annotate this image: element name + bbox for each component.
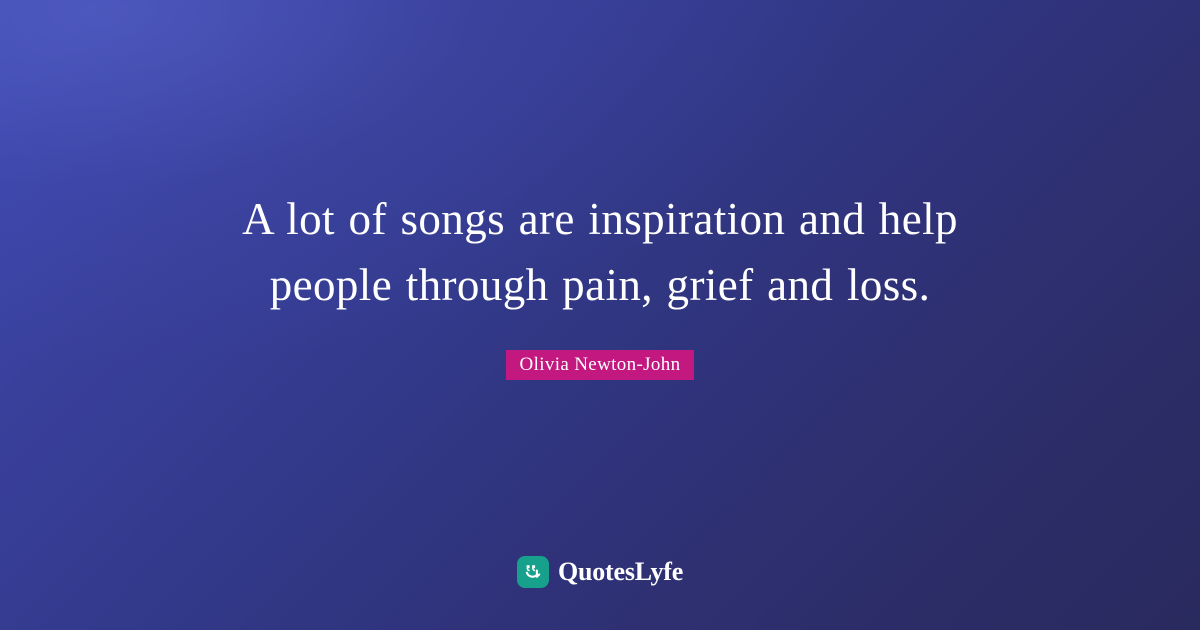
quote-line-1: A lot of songs are inspiration and help [100, 186, 1100, 252]
card-content: A lot of songs are inspiration and help … [0, 0, 1200, 630]
quote-mark-icon [517, 556, 549, 588]
quote-card: A lot of songs are inspiration and help … [0, 0, 1200, 630]
quote-block: A lot of songs are inspiration and help … [0, 186, 1200, 318]
site-logo-wordmark: QuotesLyfe [558, 559, 683, 585]
author-name-badge: Olivia Newton-John [506, 350, 695, 380]
quote-line-2: people through pain, grief and loss. [100, 252, 1100, 318]
author-attribution: Olivia Newton-John [0, 350, 1200, 380]
site-logo: QuotesLyfe [0, 556, 1200, 588]
